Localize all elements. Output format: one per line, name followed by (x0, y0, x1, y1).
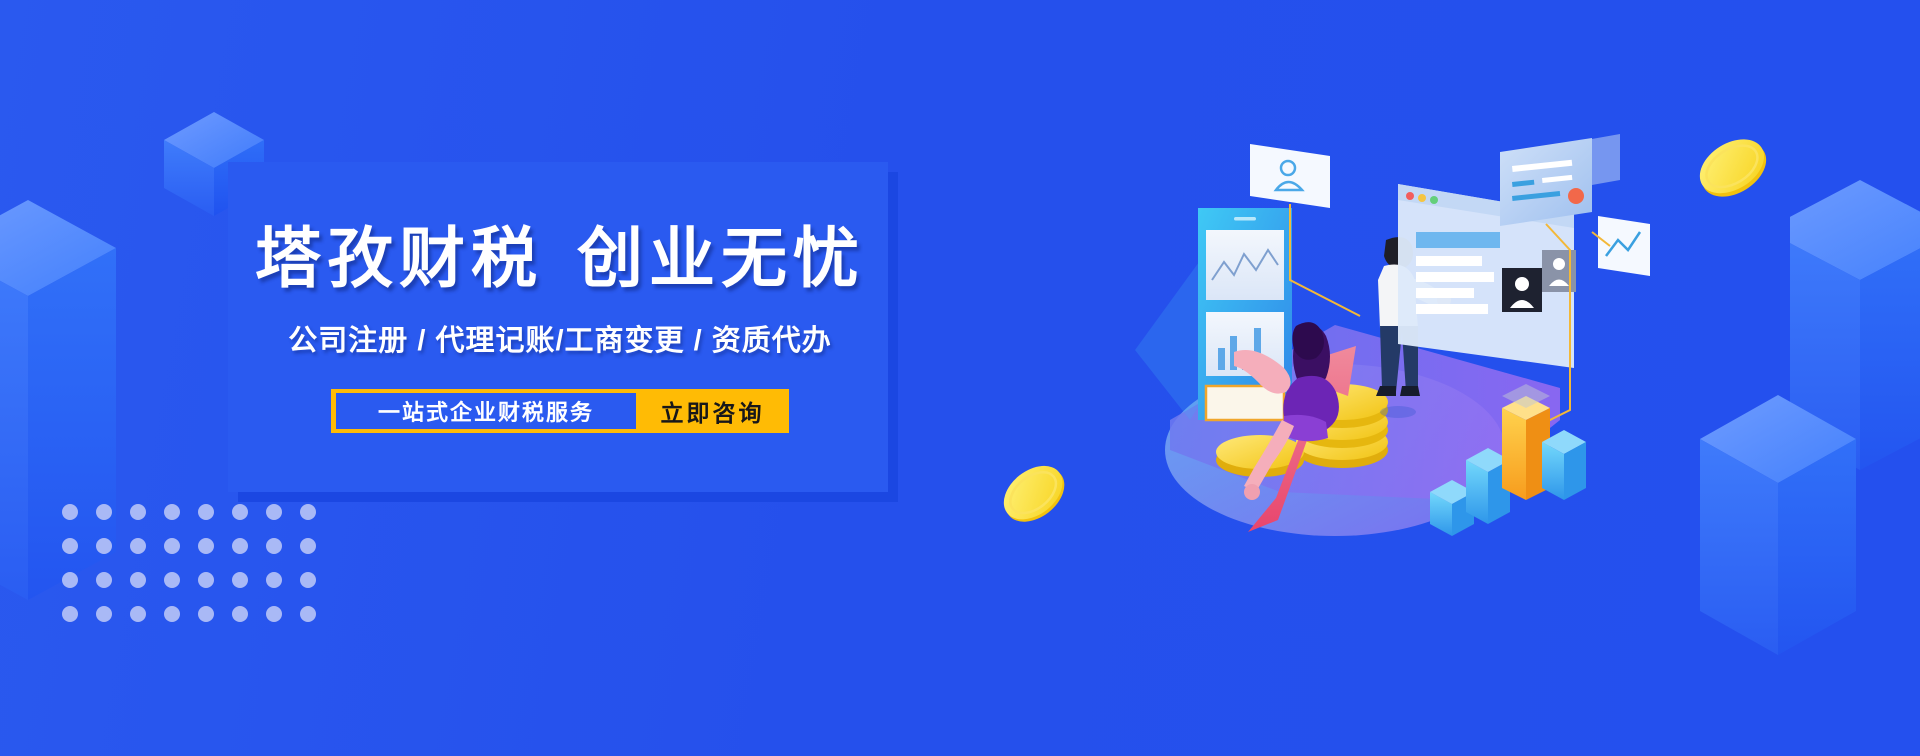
dot-grid-pattern (62, 504, 316, 622)
dot (300, 606, 316, 622)
banner-content: 塔孜财税创业无忧 公司注册 / 代理记账/工商变更 / 资质代办 一站式企业财税… (228, 162, 892, 496)
headline-part-2: 创业无忧 (577, 221, 865, 295)
dot (164, 606, 180, 622)
dot (62, 606, 78, 622)
dot (130, 504, 146, 520)
dot (96, 538, 112, 554)
dot (164, 504, 180, 520)
cta-primary-label: 一站式企业财税服务 (336, 393, 636, 429)
dot (96, 572, 112, 588)
dot (96, 504, 112, 520)
dot (96, 606, 112, 622)
avatar-tile-dark (1502, 268, 1542, 312)
dot (266, 572, 282, 588)
cta-group: 一站式企业财税服务 立即咨询 (331, 389, 789, 433)
dot (232, 538, 248, 554)
dot (266, 606, 282, 622)
isometric-business-illustration (1130, 120, 1650, 550)
gold-coin-right-icon (1690, 125, 1776, 211)
dot (62, 504, 78, 520)
profile-card (1250, 144, 1330, 208)
service-list-subtitle: 公司注册 / 代理记账/工商变更 / 资质代办 (288, 317, 831, 359)
consult-now-button[interactable]: 立即咨询 (636, 389, 789, 433)
line-chart-card (1598, 216, 1650, 276)
headline-part-1: 塔孜财税 (255, 221, 543, 295)
dot (232, 572, 248, 588)
dot (164, 572, 180, 588)
dot (266, 538, 282, 554)
dot (130, 538, 146, 554)
gold-coin-left-icon (995, 455, 1075, 535)
dot (232, 504, 248, 520)
dot (198, 538, 214, 554)
dot (198, 606, 214, 622)
dot (300, 572, 316, 588)
bar-4 (1542, 430, 1586, 500)
dot (62, 572, 78, 588)
dot (130, 606, 146, 622)
dot (232, 606, 248, 622)
credit-card (1500, 134, 1620, 226)
dot (266, 504, 282, 520)
dot (300, 538, 316, 554)
isometric-prism-right-low-icon (1700, 395, 1920, 655)
dot (198, 504, 214, 520)
page-title: 塔孜财税创业无忧 (255, 225, 865, 291)
isometric-prism-right-tall-icon (1790, 180, 1920, 470)
promo-banner: 塔孜财税创业无忧 公司注册 / 代理记账/工商变更 / 资质代办 一站式企业财税… (0, 0, 1920, 756)
dot (130, 572, 146, 588)
dot (300, 504, 316, 520)
dot (62, 538, 78, 554)
dot (198, 572, 214, 588)
dot (164, 538, 180, 554)
